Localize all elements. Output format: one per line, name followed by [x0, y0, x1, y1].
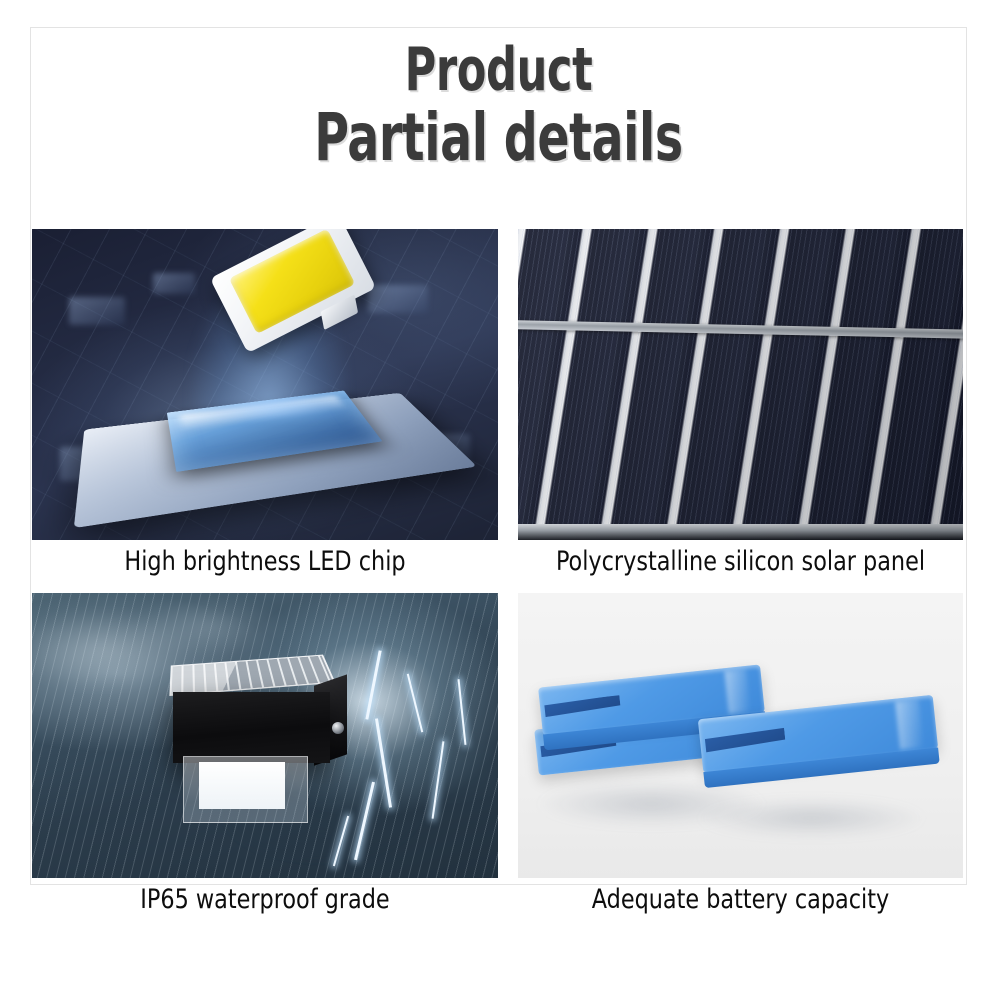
lamp-body-front — [173, 692, 330, 763]
solar-panel-shading — [518, 229, 963, 540]
lamp-diffuser — [183, 756, 308, 823]
circuit-board-background — [32, 229, 498, 540]
lamp-screw — [332, 722, 344, 734]
solar-panel-photo — [518, 229, 963, 540]
solar-wall-lamp — [167, 650, 363, 827]
caption-led-chip: High brightness LED chip — [14, 546, 516, 577]
pcb-component — [153, 273, 195, 295]
lamp-panel-sheen — [172, 656, 334, 695]
product-detail-page: Product Partial details — [0, 0, 995, 995]
pcb-component — [69, 297, 125, 325]
pcb-component — [368, 285, 429, 313]
caption-solar-panel: Polycrystalline silicon solar panel — [499, 546, 982, 577]
lamp-solar-panel-top — [169, 654, 336, 695]
caption-battery: Adequate battery capacity — [499, 884, 982, 915]
feature-cell-waterproof: IP65 waterproof grade — [32, 593, 498, 878]
lamp-diffuser-inner — [199, 762, 285, 809]
feature-cell-led-chip: High brightness LED chip — [32, 229, 498, 540]
led-chip-photo — [32, 229, 498, 540]
page-title-line-2: Partial details — [124, 104, 874, 172]
battery-photo — [518, 593, 963, 878]
page-title: Product Partial details — [30, 40, 967, 172]
feature-cell-solar-panel: Polycrystalline silicon solar panel — [518, 229, 963, 540]
feature-grid: High brightness LED chip Polycrystalline… — [32, 229, 963, 879]
waterproof-lamp-photo — [32, 593, 498, 878]
battery-shadow — [696, 798, 927, 838]
page-title-line-1: Product — [124, 40, 874, 102]
solar-panel-surface — [518, 229, 963, 540]
battery-wrap-crease — [725, 668, 752, 713]
storm-sky-background — [32, 593, 498, 878]
feature-cell-battery: Adequate battery capacity — [518, 593, 963, 878]
battery-scene — [518, 593, 963, 878]
caption-waterproof: IP65 waterproof grade — [14, 884, 516, 915]
